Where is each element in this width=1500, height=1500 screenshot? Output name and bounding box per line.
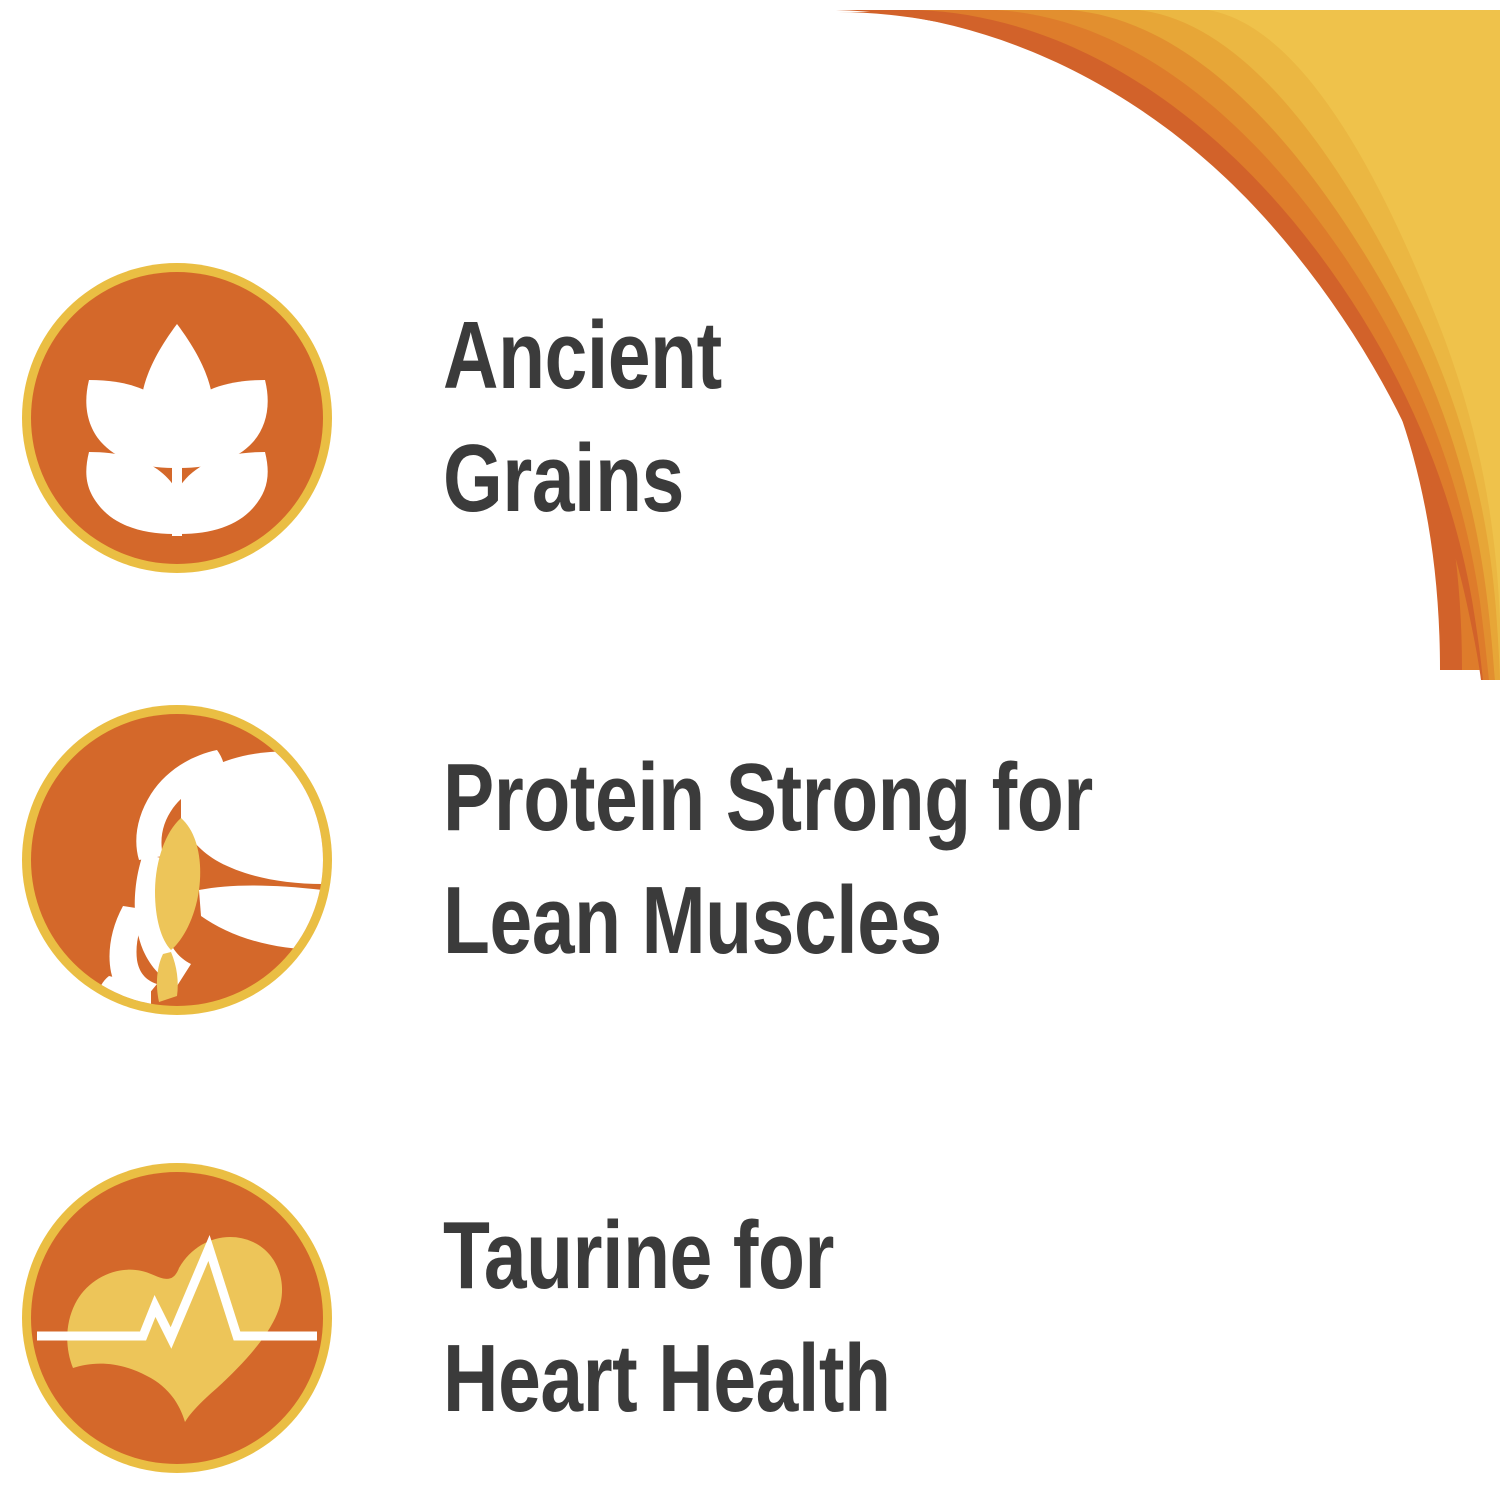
heart-health-icon [31,1172,323,1464]
feature-label-line-1: Taurine for [443,1195,891,1318]
badge-face [31,272,323,564]
feature-label-heart-health: Taurine for Heart Health [443,1195,891,1441]
badge-lean-muscles [22,705,332,1015]
feature-label-line-1: Protein Strong for [443,737,1093,860]
feature-label-line-2: Lean Muscles [443,860,1093,983]
feature-label-line-2: Heart Health [443,1318,891,1441]
badge-face [31,1172,323,1464]
feature-label-line-1: Ancient [443,295,722,418]
feature-label-lean-muscles: Protein Strong for Lean Muscles [443,737,1093,983]
badge-ancient-grains [22,263,332,573]
feature-row-heart-health: Taurine for Heart Health [0,1163,1200,1473]
feature-label-ancient-grains: Ancient Grains [443,295,722,541]
badge-face [31,714,323,1006]
lean-muscle-dog-leg-icon [31,714,323,1006]
product-feature-panel: Ancient Grains [0,0,1500,1500]
feature-row-lean-muscles: Protein Strong for Lean Muscles [0,705,1200,1015]
ancient-grains-icon [31,272,323,564]
feature-label-line-2: Grains [443,418,722,541]
badge-heart-health [22,1163,332,1473]
feature-row-ancient-grains: Ancient Grains [0,263,1200,573]
